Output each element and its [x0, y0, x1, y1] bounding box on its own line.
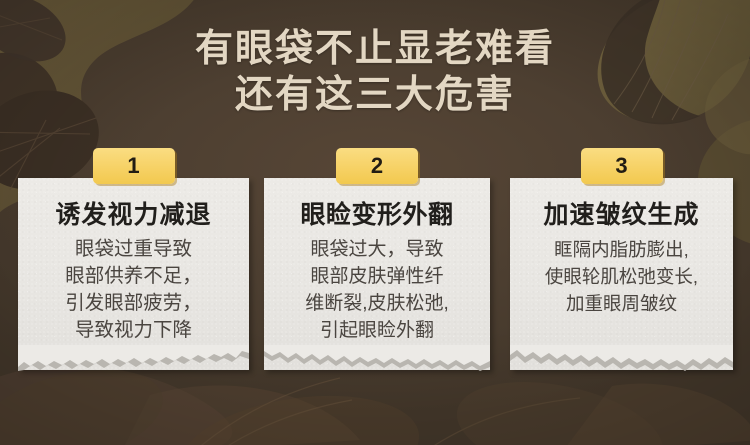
info-card-3: 3 加速皱纹生成 眶隔内脂肪膨出, 使眼轮肌松弛变长, 加重眼周皱纹 — [510, 178, 733, 370]
card-title-2: 眼睑变形外翻 — [272, 200, 482, 230]
card-content-2: 眼睑变形外翻 眼袋过大，导致 眼部皮肤弹性纤 维断裂,皮肤松弛, 引起眼睑外翻 — [264, 178, 490, 344]
poster-canvas: 有眼袋不止显老难看 还有这三大危害 1 诱发视力减退 眼袋过重导致 眼部供养不足… — [0, 0, 750, 445]
card-badge-2: 2 — [336, 148, 418, 184]
card-body-line: 使眼轮肌松弛变长, — [518, 263, 725, 290]
card-body-line: 引起眼睑外翻 — [272, 317, 482, 344]
card-body-line: 导致视力下降 — [26, 317, 241, 344]
torn-edge-3 — [510, 345, 733, 371]
card-body-line: 眼袋过大，导致 — [272, 236, 482, 263]
info-card-1: 1 诱发视力减退 眼袋过重导致 眼部供养不足， 引发眼部疲劳， 导致视力下降 — [18, 178, 249, 370]
card-badge-1: 1 — [93, 148, 175, 184]
torn-edge-1 — [18, 345, 249, 371]
title-line-1: 有眼袋不止显老难看 — [0, 26, 750, 72]
card-body-2: 眼袋过大，导致 眼部皮肤弹性纤 维断裂,皮肤松弛, 引起眼睑外翻 — [272, 236, 482, 344]
card-title-3: 加速皱纹生成 — [518, 200, 725, 230]
title-line-2: 还有这三大危害 — [0, 72, 750, 118]
card-body-3: 眶隔内脂肪膨出, 使眼轮肌松弛变长, 加重眼周皱纹 — [518, 236, 725, 317]
card-body-line: 加重眼周皱纹 — [518, 290, 725, 317]
info-card-2: 2 眼睑变形外翻 眼袋过大，导致 眼部皮肤弹性纤 维断裂,皮肤松弛, 引起眼睑外… — [264, 178, 490, 370]
card-body-line: 眶隔内脂肪膨出, — [518, 236, 725, 263]
torn-edge-2 — [264, 345, 490, 371]
card-body-line: 眼袋过重导致 — [26, 236, 241, 263]
card-body-line: 眼部皮肤弹性纤 — [272, 263, 482, 290]
card-body-1: 眼袋过重导致 眼部供养不足， 引发眼部疲劳， 导致视力下降 — [26, 236, 241, 344]
card-content-3: 加速皱纹生成 眶隔内脂肪膨出, 使眼轮肌松弛变长, 加重眼周皱纹 — [510, 178, 733, 317]
page-title: 有眼袋不止显老难看 还有这三大危害 — [0, 26, 750, 118]
card-body-line: 维断裂,皮肤松弛, — [272, 290, 482, 317]
card-body-line: 引发眼部疲劳， — [26, 290, 241, 317]
card-body-line: 眼部供养不足， — [26, 263, 241, 290]
card-content-1: 诱发视力减退 眼袋过重导致 眼部供养不足， 引发眼部疲劳， 导致视力下降 — [18, 178, 249, 344]
card-badge-3: 3 — [581, 148, 663, 184]
card-title-1: 诱发视力减退 — [26, 200, 241, 230]
